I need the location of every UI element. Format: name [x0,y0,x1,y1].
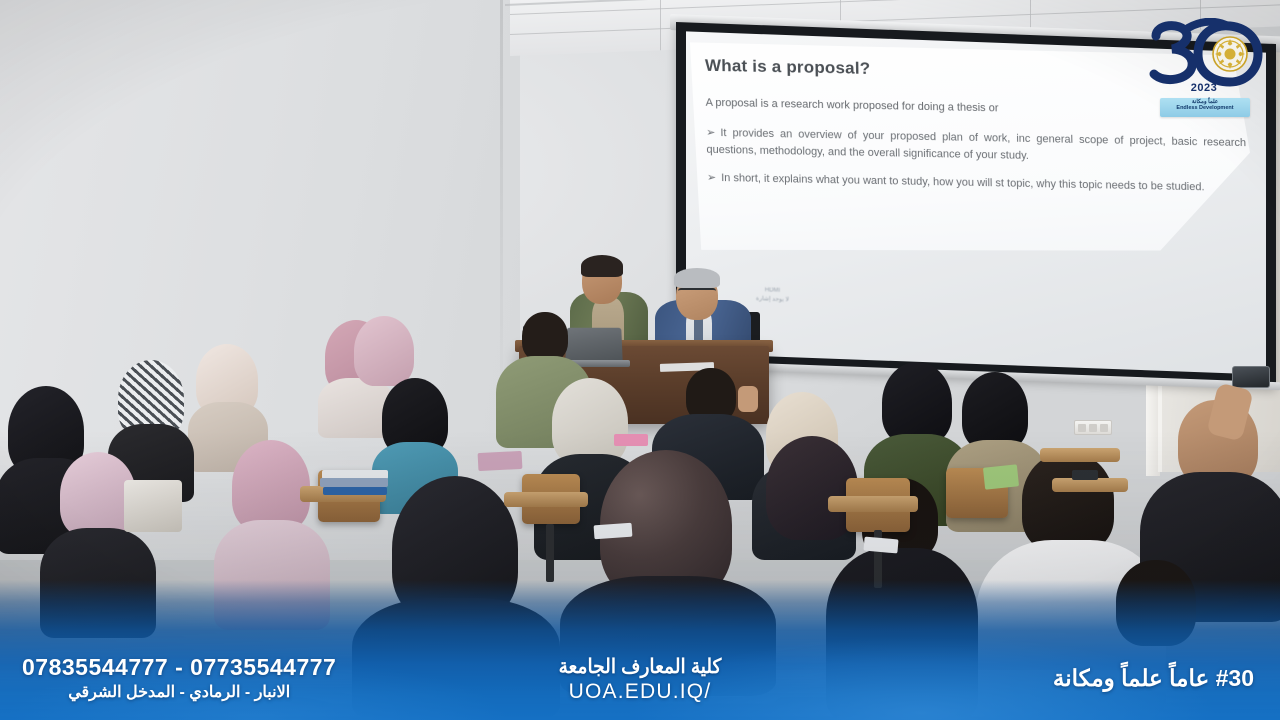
logo-tagline-banner: علماً ومكانة Endless Development [1160,98,1250,117]
student-desk-3 [828,496,918,512]
bullet-marker-icon: ➢ [706,127,715,139]
slide-bullet-2: ➢In short, it explains what you want to … [707,170,1247,197]
college-brand-block: كلية المعارف الجامعة UOA.EDU.IQ/ [552,656,727,704]
pink-folder [614,434,648,446]
website-url[interactable]: UOA.EDU.IQ/ [552,680,727,704]
logo-30-mark [1142,18,1266,90]
slide-bullet-1-text: It provides an overview of your proposed… [706,127,1246,161]
photo-stage: What is a proposal? A proposal is a rese… [0,0,1280,720]
papers-on-desk-2 [863,537,898,554]
presenter-laptop-screen [565,328,622,363]
student-desk-5 [1052,478,1128,492]
anniversary-logo: 2023 علماً ومكانة Endless Development [1142,12,1266,118]
student-desk-2 [504,492,588,507]
anniversary-hashtag: #30 عاماً علماً ومكانة [1053,665,1254,692]
stacked-books-2 [320,478,388,487]
handbag [124,480,182,532]
presenter-green-hair [581,255,623,277]
address-line: الانبار - الرمادي - المدخل الشرقي [22,682,336,702]
bullet-marker-icon: ➢ [707,172,716,184]
magazine-stack [478,451,523,471]
contact-block: 07835544777 - 07735544777 الانبار - الرم… [22,655,336,702]
notebook-green [983,464,1019,489]
hdmi-input-indicator: HDMI لا يوجد إشارة [756,286,789,305]
slide-bullet-1: ➢It provides an overview of your propose… [706,125,1246,168]
phone-recording-icon [1232,366,1270,388]
presenter-glasses-icon [678,288,716,295]
presenter-blue-hair [674,268,720,288]
power-outlet [1074,420,1112,435]
student-desk-4 [1040,448,1120,462]
logo-tagline-en: Endless Development [1160,105,1250,112]
college-name-calligraphy: كلية المعارف الجامعة [559,656,722,678]
audience-member-center-3-hand [738,386,758,412]
hdmi-sublabel: لا يوجد إشارة [756,295,789,305]
phone-on-desk [1072,470,1098,480]
university-seal-icon [1213,37,1247,71]
slide-bullet-2-text: In short, it explains what you want to s… [721,172,1205,193]
chair-leg-2 [546,524,554,582]
phone-numbers: 07835544777 - 07735544777 [22,655,336,679]
logo-year: 2023 [1142,82,1266,94]
stacked-books-3 [323,487,387,495]
papers-on-desk-1 [594,523,633,540]
